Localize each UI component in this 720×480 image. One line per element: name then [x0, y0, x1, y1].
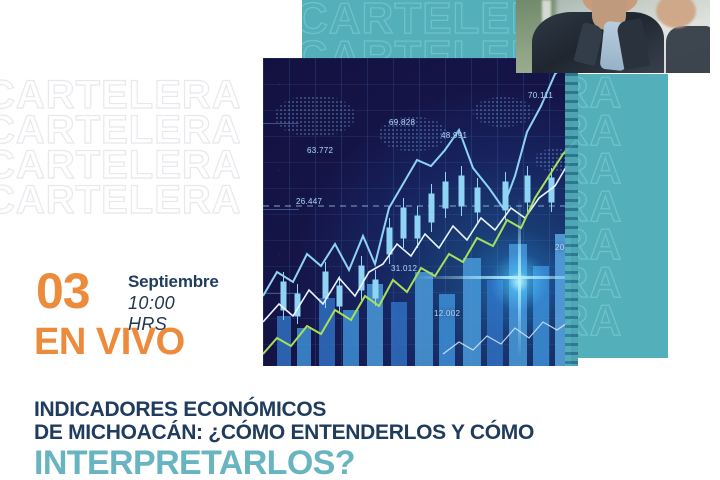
- event-month: Septiembre: [128, 272, 219, 292]
- poster-canvas: CARTELERA CARTELERA CARTELERA CARTELERA …: [0, 0, 720, 480]
- watermark-row: CARTELERA: [0, 148, 306, 183]
- teal-watermark-row: CARTELERA: [570, 302, 668, 340]
- watermark-row: CARTELERA: [0, 113, 306, 148]
- chart-plot: [263, 58, 578, 366]
- headline-block: INDICADORES ECONÓMICOS DE MICHOACÁN: ¿CÓ…: [34, 398, 694, 478]
- chart-value-label: 31.012: [391, 264, 417, 273]
- chart-bars: [277, 234, 571, 366]
- chart-value-label: 12.002: [434, 309, 460, 318]
- chart-value-label: 20: [555, 243, 565, 252]
- speaker-photo: [516, 0, 710, 73]
- event-day: 03: [36, 268, 90, 314]
- teal-block-right: CARTELERA CARTELERA CARTELERA CARTELERA …: [570, 74, 668, 358]
- chart-edge-strip: [565, 58, 578, 366]
- live-badge: EN VIVO: [34, 322, 185, 362]
- watermark-cartelera-left: CARTELERA CARTELERA CARTELERA CARTELERA: [0, 78, 306, 238]
- teal-watermark-row: CARTELERA: [302, 38, 528, 59]
- light-flare-horizontal: [413, 276, 578, 279]
- chart-value-label: 48.991: [441, 131, 467, 140]
- light-flare-vertical: [518, 198, 521, 358]
- photo-person-secondary-arm: [666, 26, 710, 73]
- chart-value-label: 26.447: [296, 197, 322, 206]
- watermark-row: CARTELERA: [0, 78, 306, 113]
- chart-value-label: 63.772: [307, 146, 333, 155]
- teal-block-top: CARTELERA CARTELERA: [302, 0, 528, 59]
- watermark-row: CARTELERA: [0, 183, 306, 218]
- headline-line-3: INTERPRETARLOS?: [34, 448, 694, 478]
- chart-value-label: 69.828: [389, 118, 415, 127]
- chart-value-label: 70.111: [528, 91, 553, 100]
- economic-chart-image: 63.772 69.828 48.991 70.111 26.447 31.01…: [263, 58, 578, 366]
- headline-line-1: INDICADORES ECONÓMICOS: [34, 398, 694, 421]
- headline-line-2: DE MICHOACÁN: ¿CÓMO ENTENDERLOS Y CÓMO: [34, 421, 694, 444]
